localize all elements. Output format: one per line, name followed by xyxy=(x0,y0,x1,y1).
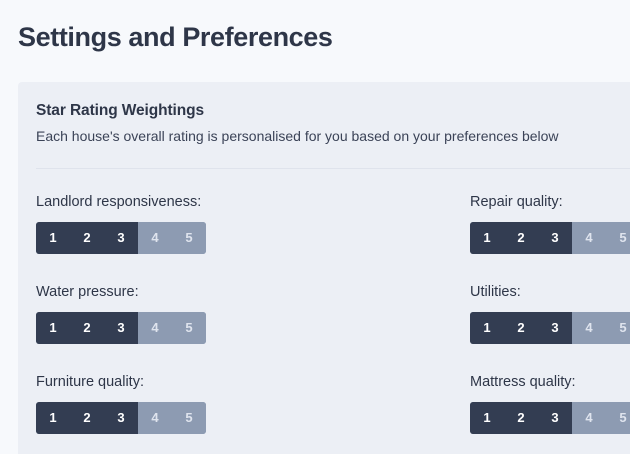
rating-item-utilities: Utilities:12345 xyxy=(470,282,630,344)
segment-utilities-5[interactable]: 5 xyxy=(606,312,630,344)
segment-furniture-quality-3[interactable]: 3 xyxy=(104,402,138,434)
segment-landlord-responsiveness-4[interactable]: 4 xyxy=(138,222,172,254)
segment-furniture-quality-2[interactable]: 2 xyxy=(70,402,104,434)
rating-item-landlord-responsiveness: Landlord responsiveness:12345 xyxy=(36,192,206,254)
rating-label-repair-quality: Repair quality: xyxy=(470,192,630,212)
rating-row: Furniture quality:12345Mattress quality:… xyxy=(36,372,630,454)
segment-utilities-3[interactable]: 3 xyxy=(538,312,572,344)
rating-item-water-pressure: Water pressure:12345 xyxy=(36,282,206,344)
page-title: Settings and Preferences xyxy=(18,18,333,56)
segment-furniture-quality-1[interactable]: 1 xyxy=(36,402,70,434)
segment-mattress-quality-5[interactable]: 5 xyxy=(606,402,630,434)
segment-water-pressure-5[interactable]: 5 xyxy=(172,312,206,344)
segment-utilities-2[interactable]: 2 xyxy=(504,312,538,344)
segment-utilities-4[interactable]: 4 xyxy=(572,312,606,344)
rating-segmented-control-water-pressure[interactable]: 12345 xyxy=(36,312,206,344)
star-rating-weightings-card: Star Rating Weightings Each house's over… xyxy=(18,82,630,454)
rating-label-water-pressure: Water pressure: xyxy=(36,282,206,302)
rating-segmented-control-repair-quality[interactable]: 12345 xyxy=(470,222,630,254)
segment-landlord-responsiveness-5[interactable]: 5 xyxy=(172,222,206,254)
segment-mattress-quality-2[interactable]: 2 xyxy=(504,402,538,434)
rating-row: Water pressure:12345Utilities:12345 xyxy=(36,282,630,372)
rating-item-mattress-quality: Mattress quality:12345 xyxy=(470,372,630,434)
segment-furniture-quality-5[interactable]: 5 xyxy=(172,402,206,434)
segment-water-pressure-4[interactable]: 4 xyxy=(138,312,172,344)
segment-mattress-quality-3[interactable]: 3 xyxy=(538,402,572,434)
segment-repair-quality-4[interactable]: 4 xyxy=(572,222,606,254)
ratings-grid: Landlord responsiveness:12345Repair qual… xyxy=(36,192,630,454)
segment-repair-quality-5[interactable]: 5 xyxy=(606,222,630,254)
segment-mattress-quality-1[interactable]: 1 xyxy=(470,402,504,434)
rating-segmented-control-mattress-quality[interactable]: 12345 xyxy=(470,402,630,434)
card-header: Star Rating Weightings Each house's over… xyxy=(36,100,630,146)
segment-landlord-responsiveness-2[interactable]: 2 xyxy=(70,222,104,254)
rating-row: Landlord responsiveness:12345Repair qual… xyxy=(36,192,630,282)
segment-repair-quality-1[interactable]: 1 xyxy=(470,222,504,254)
header-divider xyxy=(36,168,630,169)
rating-item-repair-quality: Repair quality:12345 xyxy=(470,192,630,254)
segment-water-pressure-1[interactable]: 1 xyxy=(36,312,70,344)
segment-repair-quality-2[interactable]: 2 xyxy=(504,222,538,254)
rating-label-utilities: Utilities: xyxy=(470,282,630,302)
segment-furniture-quality-4[interactable]: 4 xyxy=(138,402,172,434)
rating-segmented-control-utilities[interactable]: 12345 xyxy=(470,312,630,344)
settings-page: Settings and Preferences Star Rating Wei… xyxy=(0,0,630,454)
segment-mattress-quality-4[interactable]: 4 xyxy=(572,402,606,434)
rating-segmented-control-landlord-responsiveness[interactable]: 12345 xyxy=(36,222,206,254)
rating-item-furniture-quality: Furniture quality:12345 xyxy=(36,372,206,434)
segment-repair-quality-3[interactable]: 3 xyxy=(538,222,572,254)
rating-label-landlord-responsiveness: Landlord responsiveness: xyxy=(36,192,206,212)
segment-water-pressure-3[interactable]: 3 xyxy=(104,312,138,344)
segment-landlord-responsiveness-3[interactable]: 3 xyxy=(104,222,138,254)
segment-water-pressure-2[interactable]: 2 xyxy=(70,312,104,344)
card-subtitle: Each house's overall rating is personali… xyxy=(36,126,630,146)
rating-label-mattress-quality: Mattress quality: xyxy=(470,372,630,392)
rating-label-furniture-quality: Furniture quality: xyxy=(36,372,206,392)
card-title: Star Rating Weightings xyxy=(36,100,630,122)
segment-utilities-1[interactable]: 1 xyxy=(470,312,504,344)
segment-landlord-responsiveness-1[interactable]: 1 xyxy=(36,222,70,254)
rating-segmented-control-furniture-quality[interactable]: 12345 xyxy=(36,402,206,434)
